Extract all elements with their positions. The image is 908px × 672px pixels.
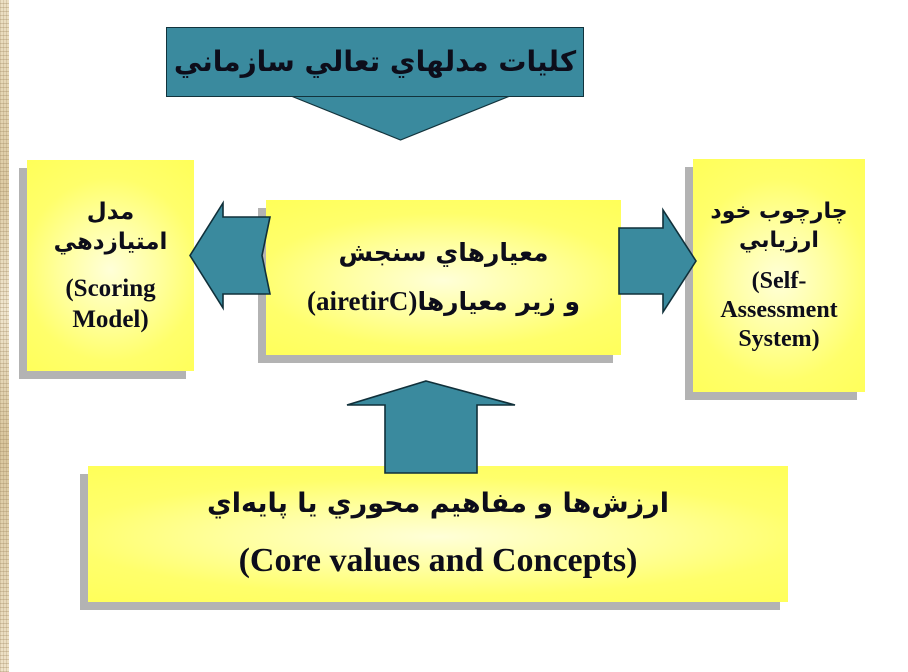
self-assessment-line-1: چارچوب خود [710, 197, 847, 226]
diagram-canvas: كليات مدلهاي تعالي سازماني مدل امتيازدهي… [0, 0, 908, 672]
criteria-line-2-fa: و زير معيارها [417, 287, 580, 316]
self-assessment-line-4: Assessment [720, 296, 837, 325]
self-assessment-box[interactable]: چارچوب خود ارزيابي (Self- Assessment Sys… [693, 159, 865, 392]
self-assessment-line-2: ارزيابي [739, 226, 819, 255]
scoring-model-line-1: مدل [87, 197, 134, 227]
scoring-model-line-4: Model) [72, 304, 148, 335]
arrow-down-title-to-criteria-icon [291, 96, 510, 140]
scoring-model-box[interactable]: مدل امتيازدهي (Scoring Model) [27, 160, 194, 371]
diagram-title-bar: كليات مدلهاي تعالي سازماني [166, 27, 584, 97]
criteria-line-2: و زير معيارها(Criteria) [307, 284, 580, 319]
diagram-title-text: كليات مدلهاي تعالي سازماني [164, 45, 586, 79]
slide-edge-texture [0, 0, 9, 672]
arrow-left-criteria-to-scoring-model-icon [190, 203, 270, 308]
scoring-model-line-3: (Scoring [65, 273, 155, 304]
criteria-line-1: معيارهاي سنجش [338, 236, 548, 270]
scoring-model-line-2: امتيازدهي [54, 227, 168, 257]
core-values-line-1: ارزش‌ها و مفاهيم محوري يا پايه‌اي [207, 486, 669, 522]
criteria-box[interactable]: معيارهاي سنجش و زير معيارها(Criteria) [266, 200, 621, 355]
self-assessment-line-5: System) [738, 325, 819, 354]
arrow-up-core-values-to-criteria-icon [337, 381, 515, 473]
core-values-line-2: (Core values and Concepts) [239, 540, 638, 582]
self-assessment-line-3: (Self- [752, 267, 807, 296]
criteria-line-2-en: (Criteria) [307, 286, 417, 316]
core-values-box[interactable]: ارزش‌ها و مفاهيم محوري يا پايه‌اي (Core … [88, 466, 788, 602]
arrow-right-criteria-to-self-assessment-icon [619, 210, 696, 312]
